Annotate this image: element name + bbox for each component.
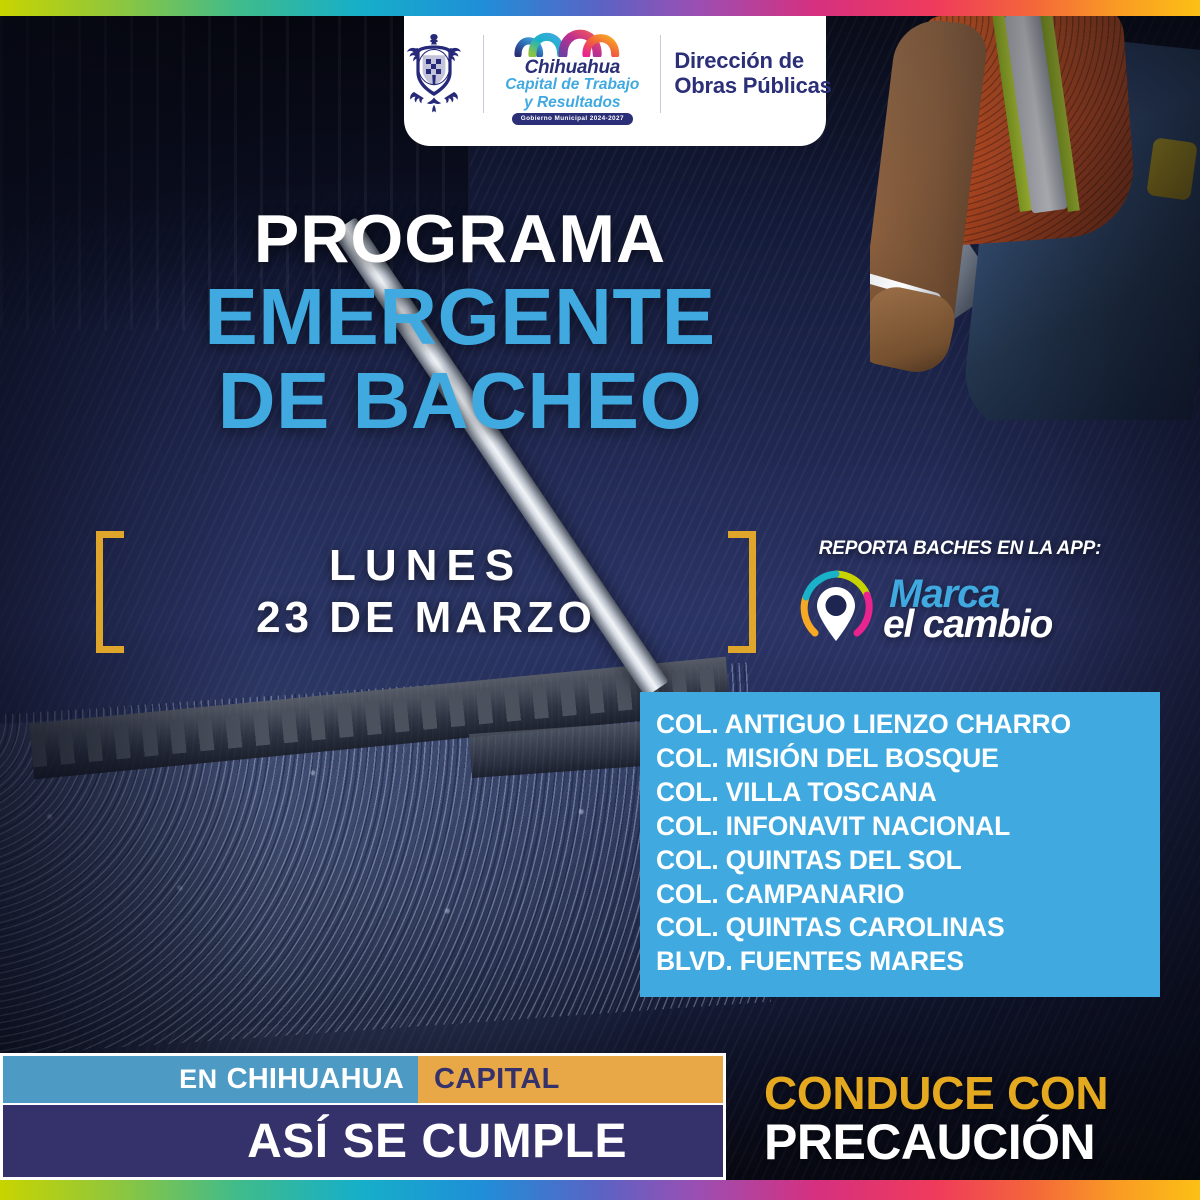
app-promo-block: REPORTA BACHES EN LA APP: Marca el cambi…	[795, 538, 1125, 649]
marca-el-cambio-wordmark: Marca el cambio	[883, 570, 1125, 646]
slogan-banner-row-2: ASÍ SE CUMPLE	[0, 1105, 726, 1180]
slogan-prefix: EN	[179, 1064, 218, 1095]
rainbow-bar-top	[0, 0, 1200, 16]
headline-line-3: DE BACHEO	[0, 360, 920, 442]
list-item: COL. MISIÓN DEL BOSQUE	[656, 742, 1160, 776]
list-item: COL. QUINTAS DEL SOL	[656, 844, 1160, 878]
chihuahua-coat-of-arms-icon	[398, 26, 470, 122]
date-text: LUNES 23 DE MARZO	[136, 540, 716, 644]
slogan-banner-blue-segment: EN CHIHUAHUA	[0, 1053, 418, 1105]
department-line-2: Obras Públicas	[674, 74, 831, 99]
department-title: Dirección de Obras Públicas	[674, 49, 831, 98]
rainbow-bar-bottom	[0, 1180, 1200, 1200]
brand-tagline-line2: y Resultados	[524, 94, 620, 111]
app-logo-word-cambio: cambio	[923, 603, 1052, 646]
caution-line-2: PRECAUCIÓN	[764, 1116, 1164, 1169]
list-item: BLVD. FUENTES MARES	[656, 945, 1160, 979]
app-promo-label: REPORTA BACHES EN LA APP:	[795, 538, 1125, 560]
chihuahua-brand-logo: Chihuahua Capital de Trabajo y Resultado…	[497, 23, 647, 125]
date-day-month: 23 DE MARZO	[142, 592, 710, 644]
app-logo-word-el-cambio: el cambio	[883, 603, 1052, 647]
header-divider-right	[660, 35, 661, 113]
slogan-banner: EN CHIHUAHUA CAPITAL ASÍ SE CUMPLE	[0, 1053, 726, 1180]
brand-name: Chihuahua	[525, 58, 620, 77]
poster-canvas: Chihuahua Capital de Trabajo y Resultado…	[0, 0, 1200, 1200]
slogan-capital: CAPITAL	[434, 1063, 560, 1096]
slogan-banner-gold-segment: CAPITAL	[418, 1053, 726, 1105]
header-logo-bar: Chihuahua Capital de Trabajo y Resultado…	[404, 0, 826, 146]
app-logo-row: Marca el cambio	[795, 567, 1125, 649]
chihuahua-arcs-icon	[509, 23, 635, 57]
colonias-list: COL. ANTIGUO LIENZO CHARRO COL. MISIÓN D…	[640, 692, 1160, 997]
slogan-text: ASÍ SE CUMPLE	[247, 1114, 627, 1169]
list-item: COL. VILLA TOSCANA	[656, 776, 1160, 810]
page-title: PROGRAMA EMERGENTE DE BACHEO	[0, 205, 920, 442]
date-weekday: LUNES	[142, 540, 710, 592]
headline-line-1: PROGRAMA	[0, 205, 920, 274]
brand-tagline-line1: Capital de Trabajo	[505, 77, 639, 94]
caution-line-1: CONDUCE CON	[764, 1070, 1164, 1116]
slogan-city: CHIHUAHUA	[227, 1063, 404, 1096]
list-item: COL. ANTIGUO LIENZO CHARRO	[656, 708, 1160, 742]
date-block: LUNES 23 DE MARZO	[96, 528, 756, 656]
app-logo-word-el: el	[883, 603, 923, 646]
department-line-1: Dirección de	[674, 49, 831, 74]
bracket-right-icon	[716, 531, 756, 653]
list-item: COL. QUINTAS CAROLINAS	[656, 911, 1160, 945]
map-pin-ring-icon	[795, 567, 877, 649]
brand-ribbon: Gobierno Municipal 2024-2027	[512, 113, 633, 125]
slogan-banner-row-1: EN CHIHUAHUA CAPITAL	[0, 1053, 726, 1105]
list-item: COL. INFONAVIT NACIONAL	[656, 810, 1160, 844]
header-divider-left	[483, 35, 484, 113]
headline-line-2: EMERGENTE	[0, 276, 920, 358]
bracket-left-icon	[96, 531, 136, 653]
list-item: COL. CAMPANARIO	[656, 878, 1160, 912]
caution-message: CONDUCE CON PRECAUCIÓN	[764, 1070, 1164, 1169]
